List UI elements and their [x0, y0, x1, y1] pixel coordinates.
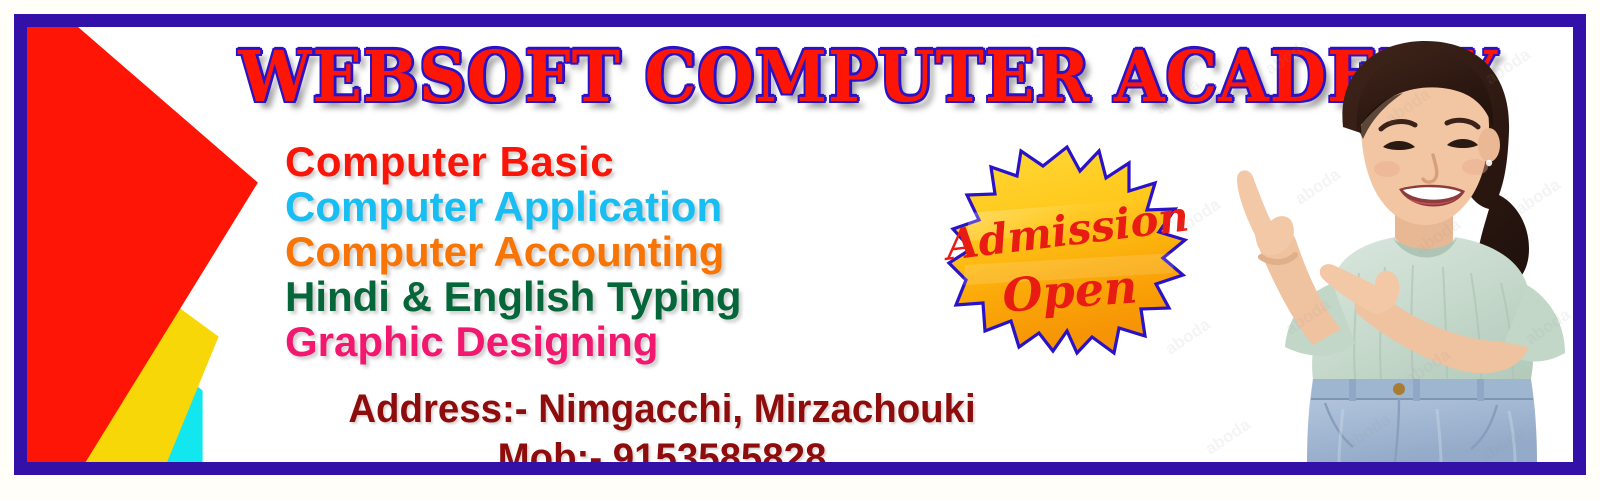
course-list: Computer Basic Computer Application Comp…	[285, 139, 945, 364]
course-item-computer-accounting: Computer Accounting	[285, 229, 945, 274]
mobile-line: Mob:- 9153585828	[254, 434, 1070, 462]
badge-line-2: Open	[1001, 259, 1139, 322]
presenter-photo	[1137, 27, 1573, 462]
course-item-hindi-english-typing: Hindi & English Typing	[285, 274, 945, 319]
advertisement-banner: WEBSOFT COMPUTER ACADEMY Computer Basic …	[0, 0, 1600, 500]
banner-content-area: WEBSOFT COMPUTER ACADEMY Computer Basic …	[27, 27, 1573, 462]
contact-block: Address:- Nimgacchi, Mirzachouki Mob:- 9…	[237, 385, 1087, 462]
banner-frame: WEBSOFT COMPUTER ACADEMY Computer Basic …	[14, 14, 1586, 475]
course-item-computer-basic: Computer Basic	[285, 139, 945, 184]
address-line: Address:- Nimgacchi, Mirzachouki	[254, 385, 1070, 434]
course-item-graphic-designing: Graphic Designing	[285, 319, 945, 364]
course-item-computer-application: Computer Application	[285, 184, 945, 229]
